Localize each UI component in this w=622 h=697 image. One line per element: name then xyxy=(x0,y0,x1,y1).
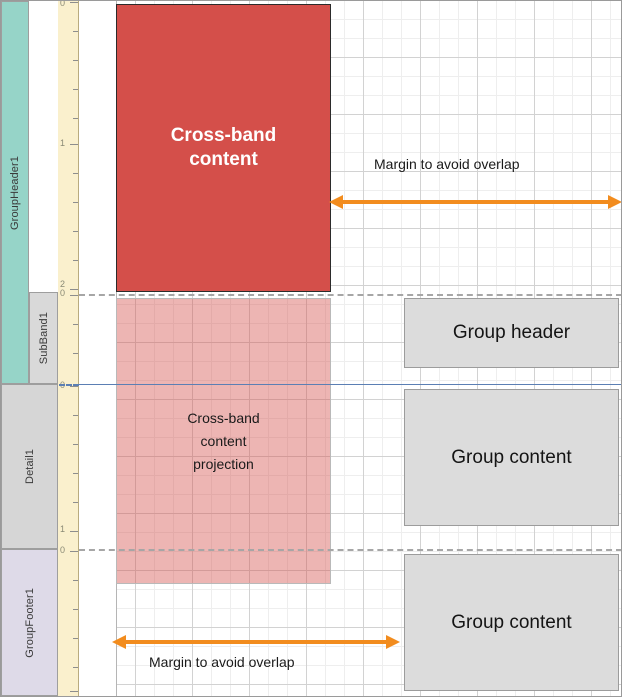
cross-band-projection-line1: Cross-band xyxy=(187,407,259,430)
separator-groupheader-subband xyxy=(79,294,622,296)
cross-band-projection-line3: projection xyxy=(193,453,254,476)
ruler-label-0-d: 0 xyxy=(60,546,65,555)
band-caption-groupfooter1[interactable]: GroupFooter1 xyxy=(1,549,58,696)
annotation-margin-note-bottom-text: Margin to avoid overlap xyxy=(149,654,295,670)
element-group-content-box-2[interactable]: Group content xyxy=(404,554,619,691)
element-cross-band-content[interactable]: Cross-band content xyxy=(116,4,331,292)
band-caption-subband1[interactable]: SubBand1 xyxy=(29,292,58,384)
separator-detail-groupfooter xyxy=(79,549,622,551)
band-caption-groupheader1[interactable]: GroupHeader1 xyxy=(1,1,29,384)
group-header-box-label: Group header xyxy=(453,322,570,344)
element-group-header-box[interactable]: Group header xyxy=(404,298,619,368)
group-content-box-2-label: Group content xyxy=(451,612,571,634)
annotation-margin-note-top-text: Margin to avoid overlap xyxy=(374,156,520,172)
band-caption-strip: GroupHeader1 SubBand1 Detail1 GroupFoote… xyxy=(1,1,58,696)
separator-blue-stub xyxy=(59,384,79,386)
ruler-label-1-a: 1 xyxy=(60,139,65,148)
band-caption-detail1[interactable]: Detail1 xyxy=(1,384,58,549)
band-caption-groupfooter1-label: GroupFooter1 xyxy=(24,588,36,658)
cross-band-projection-line2: content xyxy=(201,430,247,453)
band-caption-groupheader1-label: GroupHeader1 xyxy=(9,156,21,230)
ruler-label-0-b: 0 xyxy=(60,289,65,298)
cross-band-content-line2: content xyxy=(189,148,258,172)
band-caption-detail1-label: Detail1 xyxy=(24,449,36,484)
ruler-label-0-a: 0 xyxy=(60,0,65,8)
page-left-margin xyxy=(79,1,117,696)
annotation-margin-arrow-top xyxy=(329,193,622,211)
report-band-designer: GroupHeader1 SubBand1 Detail1 GroupFoote… xyxy=(0,0,622,697)
element-group-content-box-1[interactable]: Group content xyxy=(404,389,619,526)
design-canvas[interactable]: Cross-band content Cross-band content pr… xyxy=(79,1,622,696)
ruler-label-1-c: 1 xyxy=(60,525,65,534)
element-cross-band-projection: Cross-band content projection xyxy=(116,298,331,584)
separator-subband-detail xyxy=(79,384,622,385)
group-content-box-1-label: Group content xyxy=(451,447,571,469)
band-caption-subband1-label: SubBand1 xyxy=(38,312,50,364)
annotation-margin-arrow-bottom xyxy=(112,633,400,651)
vertical-ruler[interactable]: 0 1 2 0 0 1 0 xyxy=(58,1,79,696)
cross-band-content-line1: Cross-band xyxy=(171,124,277,148)
